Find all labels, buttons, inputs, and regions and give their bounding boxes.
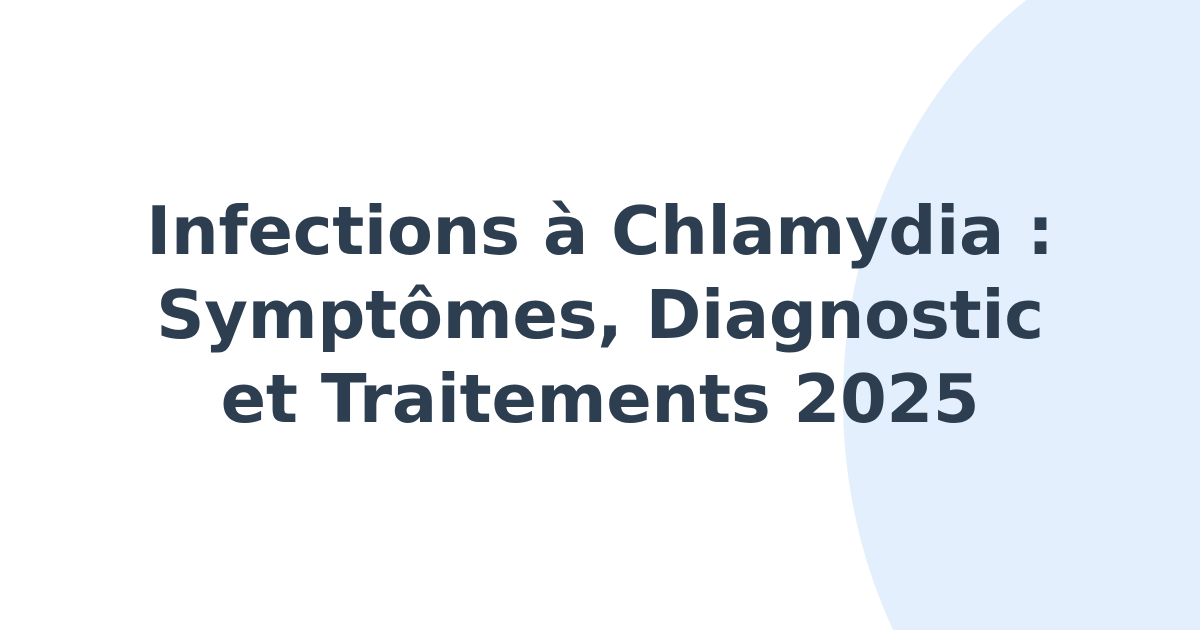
title-container: Infections à Chlamydia : Symptômes, Diag… <box>0 0 1200 630</box>
page-title: Infections à Chlamydia : Symptômes, Diag… <box>140 189 1060 441</box>
social-share-card: Infections à Chlamydia : Symptômes, Diag… <box>0 0 1200 630</box>
